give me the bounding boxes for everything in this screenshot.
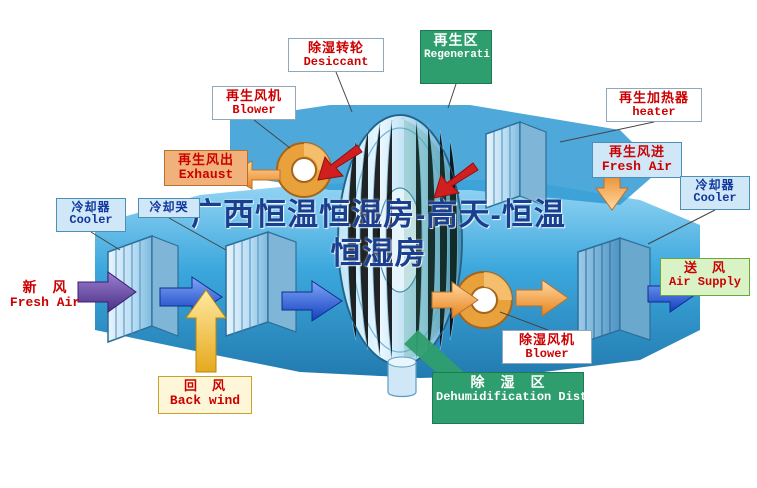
label-en: Exhaust — [168, 168, 244, 183]
label-cooler-right: 冷却器Cooler — [680, 176, 750, 210]
label-back-wind: 回 风Back wind — [158, 376, 252, 414]
label-en: Regenerati on Area — [424, 49, 488, 61]
label-regeneration-heater: 再生加热器heater — [606, 88, 702, 122]
cooler-right-block — [578, 238, 650, 344]
label-desiccant-rotor: 除湿转轮Desiccant — [288, 38, 384, 72]
label-cn: 回 风 — [162, 379, 248, 394]
label-cn: 新 风 — [7, 280, 83, 296]
label-regeneration-blower: 再生风机Blower — [212, 86, 296, 120]
label-regeneration-area: 再生区Regenerati on Area — [420, 30, 492, 84]
label-cooler-center: 冷却哭 — [138, 198, 200, 218]
label-cn: 再生风进 — [596, 145, 678, 160]
label-cn: 再生风机 — [216, 89, 292, 104]
label-cn: 冷却器 — [684, 179, 746, 192]
label-en: Cooler — [60, 214, 122, 227]
dehumidifier-schematic — [0, 0, 757, 488]
label-en: Fresh Air — [7, 296, 83, 311]
label-en: Desiccant — [292, 56, 380, 69]
label-cn: 除 湿 区 — [436, 375, 580, 391]
label-cn: 送 风 — [664, 261, 746, 276]
label-en: Fresh Air — [596, 160, 678, 175]
label-en: heater — [610, 106, 698, 119]
label-en: Cooler — [684, 192, 746, 205]
label-en: Air Supply — [664, 276, 746, 289]
cooler-center-block — [226, 232, 296, 336]
label-cn: 除湿转轮 — [292, 41, 380, 56]
label-cn: 再生风出 — [168, 153, 244, 168]
label-dehumidification-district: 除 湿 区Dehumidification District — [432, 372, 584, 424]
label-air-supply: 送 风Air Supply — [660, 258, 750, 296]
label-fresh-air-inlet: 新 风Fresh Air — [4, 278, 86, 314]
label-en: Blower — [506, 348, 588, 361]
label-cn: 冷却哭 — [142, 201, 196, 214]
label-en: Back wind — [162, 394, 248, 409]
label-en: Blower — [216, 104, 292, 117]
label-regeneration-inlet: 再生风进Fresh Air — [592, 142, 682, 178]
label-regeneration-exhaust: 再生风出Exhaust — [164, 150, 248, 186]
label-cooler-left: 冷却器Cooler — [56, 198, 126, 232]
label-cn: 再生区 — [424, 33, 488, 49]
regeneration-coil-block — [486, 122, 546, 208]
label-dehumid-blower: 除湿风机Blower — [502, 330, 592, 364]
label-en: Dehumidification District — [436, 391, 580, 404]
label-cn: 除湿风机 — [506, 333, 588, 348]
label-cn: 冷却器 — [60, 201, 122, 214]
diagram-canvas: 广西恒温恒湿房-高天-恒温 恒湿房 除湿转轮Desiccant再生区Regene… — [0, 0, 757, 488]
label-cn: 再生加热器 — [610, 91, 698, 106]
